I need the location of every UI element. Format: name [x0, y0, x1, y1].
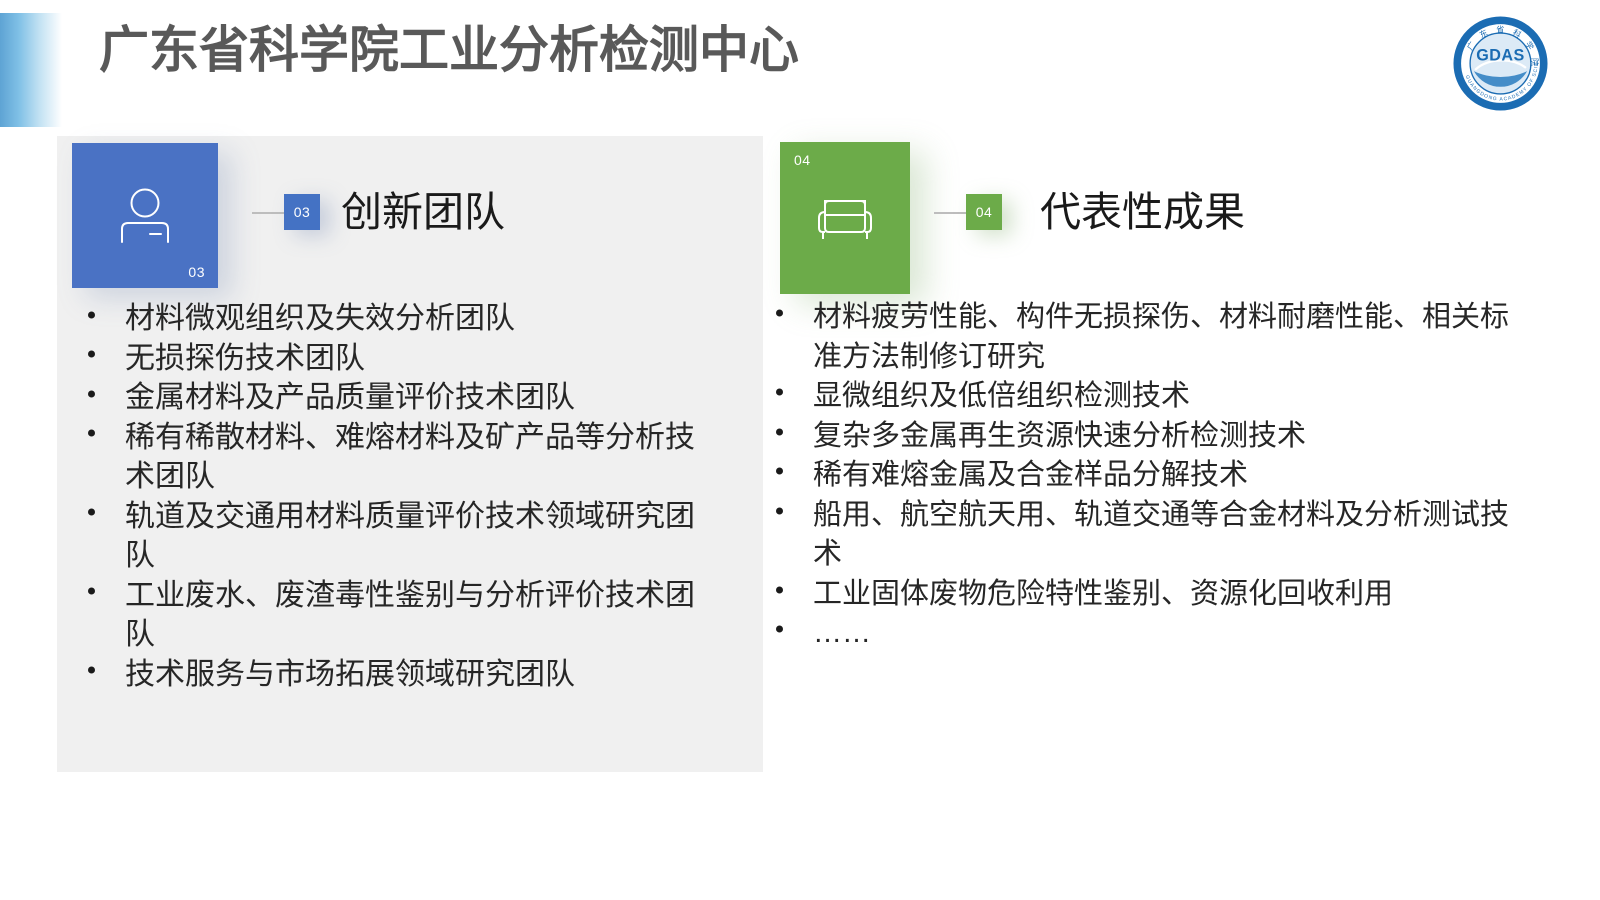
armchair-icon: [780, 190, 910, 246]
bullet-dot-icon: [88, 588, 95, 595]
bullet-dot-icon: [776, 586, 783, 593]
list-item-text: 稀有难熔金属及合金样品分解技术: [813, 456, 1530, 496]
tile-number-04: 04: [794, 152, 811, 168]
representative-results-list: 材料疲劳性能、构件无损探伤、材料耐磨性能、相关标准方法制修订研究 显微组织及低倍…: [760, 298, 1530, 654]
person-icon: [72, 186, 218, 246]
list-item: 轨道及交通用材料质量评价技术领域研究团队: [72, 497, 712, 576]
list-item-text: 稀有稀散材料、难熔材料及矿产品等分析技术团队: [125, 418, 712, 497]
connector-line-04: [934, 212, 966, 214]
list-item-text: 复杂多金属再生资源快速分析检测技术: [813, 417, 1530, 457]
list-item-text: 船用、航空航天用、轨道交通等合金材料及分析测试技术: [813, 496, 1530, 575]
section-tile-04: 04: [780, 142, 910, 294]
list-item: 船用、航空航天用、轨道交通等合金材料及分析测试技术: [760, 496, 1530, 575]
bullet-dot-icon: [88, 509, 95, 516]
section-title-03: 创新团队: [341, 188, 505, 236]
list-item: 金属材料及产品质量评价技术团队: [72, 378, 712, 418]
list-item: 显微组织及低倍组织检测技术: [760, 377, 1530, 417]
list-item: ……: [760, 614, 1530, 654]
bullet-dot-icon: [776, 428, 783, 435]
logo-acronym: GDAS: [1476, 47, 1525, 65]
bullet-dot-icon: [88, 390, 95, 397]
bullet-dot-icon: [88, 430, 95, 437]
list-item-text: 材料疲劳性能、构件无损探伤、材料耐磨性能、相关标准方法制修订研究: [813, 298, 1530, 377]
list-item-text: 显微组织及低倍组织检测技术: [813, 377, 1530, 417]
section-title-04: 代表性成果: [1040, 188, 1245, 236]
list-item-text: 材料微观组织及失效分析团队: [125, 299, 712, 339]
bullet-dot-icon: [776, 468, 783, 475]
section-badge-04: 04: [966, 194, 1002, 230]
gdas-logo: GDAS 广 东 省 科 学 院 GUANGDONG ACADEMY OF SC…: [1453, 16, 1548, 111]
list-item-text: 无损探伤技术团队: [125, 339, 712, 379]
section-badge-03: 03: [284, 194, 320, 230]
innovation-team-list: 材料微观组织及失效分析团队 无损探伤技术团队 金属材料及产品质量评价技术团队 稀…: [72, 299, 712, 694]
bullet-dot-icon: [88, 311, 95, 318]
list-item: 工业固体废物危险特性鉴别、资源化回收利用: [760, 575, 1530, 615]
slide-canvas: 广东省科学院工业分析检测中心 GDAS 广 东 省 科 学 院 GUANGDON…: [0, 0, 1600, 900]
bullet-dot-icon: [88, 351, 95, 358]
connector-line-03: [252, 212, 284, 214]
list-item-text: 工业废水、废渣毒性鉴别与分析评价技术团队: [125, 576, 712, 655]
page-title: 广东省科学院工业分析检测中心: [99, 18, 799, 82]
list-item: 无损探伤技术团队: [72, 339, 712, 379]
list-item-text: 工业固体废物危险特性鉴别、资源化回收利用: [813, 575, 1530, 615]
header-accent-bar: [0, 13, 62, 127]
bullet-dot-icon: [776, 310, 783, 317]
tile-number-03: 03: [188, 264, 205, 280]
bullet-dot-icon: [88, 667, 95, 674]
list-item: 稀有稀散材料、难熔材料及矿产品等分析技术团队: [72, 418, 712, 497]
list-item: 工业废水、废渣毒性鉴别与分析评价技术团队: [72, 576, 712, 655]
list-item-text: ……: [813, 614, 1530, 654]
list-item-text: 金属材料及产品质量评价技术团队: [125, 378, 712, 418]
bullet-dot-icon: [776, 626, 783, 633]
list-item: 材料微观组织及失效分析团队: [72, 299, 712, 339]
list-item: 稀有难熔金属及合金样品分解技术: [760, 456, 1530, 496]
list-item: 复杂多金属再生资源快速分析检测技术: [760, 417, 1530, 457]
list-item-text: 轨道及交通用材料质量评价技术领域研究团队: [125, 497, 712, 576]
bullet-dot-icon: [776, 389, 783, 396]
bullet-dot-icon: [776, 507, 783, 514]
list-item: 材料疲劳性能、构件无损探伤、材料耐磨性能、相关标准方法制修订研究: [760, 298, 1530, 377]
list-item: 技术服务与市场拓展领域研究团队: [72, 655, 712, 695]
section-tile-03: 03: [72, 143, 218, 288]
list-item-text: 技术服务与市场拓展领域研究团队: [125, 655, 712, 695]
